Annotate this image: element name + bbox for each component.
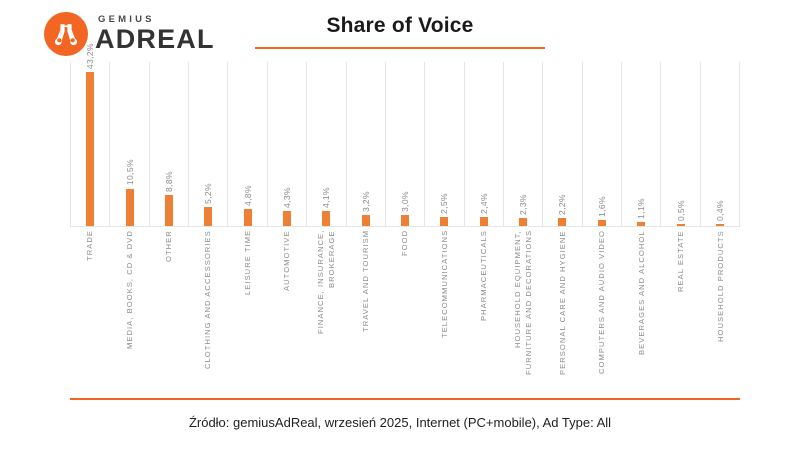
category-label: OTHER: [163, 230, 174, 385]
category-label: AUTOMOTIVE: [281, 230, 292, 385]
chart-column: 4,3%: [267, 62, 306, 226]
category-tick: AUTOMOTIVE: [267, 230, 306, 385]
title-underline: [255, 47, 545, 49]
chart-bar[interactable]: [440, 217, 448, 226]
category-tick: MEDIA, BOOKS, CD & DVD: [109, 230, 148, 385]
page-title: Share of Voice: [255, 14, 545, 49]
bar-value-label: 0,4%: [715, 200, 725, 221]
bar-value-label: 8,8%: [164, 171, 174, 192]
bar-value-label: 10,5%: [125, 159, 135, 185]
chart-column: 2,3%: [503, 62, 542, 226]
chart-bar[interactable]: [362, 215, 370, 226]
category-tick: BEVERAGES AND ALCOHOL: [622, 230, 661, 385]
chart-bar[interactable]: [401, 215, 409, 226]
category-tick: FOOD: [385, 230, 424, 385]
bar-value-label: 4,3%: [282, 187, 292, 208]
category-label: COMPUTERS AND AUDIO VIDEO: [596, 230, 607, 385]
chart-column: 3,0%: [385, 62, 424, 226]
chart-baseline: [70, 226, 740, 227]
category-label: LEISURE TIME: [242, 230, 253, 385]
chart-column: 4,8%: [227, 62, 266, 226]
category-tick: OTHER: [149, 230, 188, 385]
category-tick: PERSONAL CARE AND HYGIENE: [543, 230, 582, 385]
brand-adreal: ADREAL: [95, 26, 215, 53]
chart-bar[interactable]: [165, 195, 173, 226]
source-note: Źródło: gemiusAdReal, wrzesień 2025, Int…: [0, 415, 800, 430]
category-tick: HOUSEHOLD EQUIPMENT, FURNITURE AND DECOR…: [503, 230, 542, 385]
category-label: CLOTHING AND ACCESSORIES: [202, 230, 213, 385]
brand-wordmark: GEMIUS ADREAL: [95, 15, 215, 54]
category-label: FINANCE, INSURANCE, BROKERAGE: [315, 230, 337, 385]
chart-column: 2,2%: [542, 62, 581, 226]
page-title-text: Share of Voice: [255, 14, 545, 38]
category-label: HOUSEHOLD PRODUCTS: [715, 230, 726, 385]
chart-plot-area: 43,2%10,5%8,8%5,2%4,8%4,3%4,1%3,2%3,0%2,…: [70, 62, 740, 226]
category-label: BEVERAGES AND ALCOHOL: [636, 230, 647, 385]
chart-bar[interactable]: [244, 209, 252, 226]
chart-column: 4,1%: [306, 62, 345, 226]
category-label: REAL ESTATE: [675, 230, 686, 385]
bar-value-label: 2,2%: [557, 194, 567, 215]
category-tick: PHARMACEUTICALS: [464, 230, 503, 385]
bar-value-label: 2,4%: [479, 193, 489, 214]
bar-value-label: 4,8%: [243, 185, 253, 206]
page-header: GEMIUS ADREAL Share of Voice: [0, 0, 800, 62]
chart-column: 2,5%: [424, 62, 463, 226]
bar-value-label: 3,2%: [361, 191, 371, 212]
category-label: MEDIA, BOOKS, CD & DVD: [124, 230, 135, 385]
category-label: TELECOMMUNICATIONS: [439, 230, 450, 385]
category-label: TRAVEL AND TOURISM: [360, 230, 371, 385]
category-tick: TRAVEL AND TOURISM: [346, 230, 385, 385]
brand-gemius: GEMIUS: [95, 15, 215, 25]
chart-column: 0,4%: [700, 62, 740, 226]
category-label: TRADE: [84, 230, 95, 385]
bar-value-label: 4,1%: [321, 187, 331, 208]
bar-chart: 43,2%10,5%8,8%5,2%4,8%4,3%4,1%3,2%3,0%2,…: [70, 62, 740, 226]
chart-column: 2,4%: [464, 62, 503, 226]
chart-bar[interactable]: [322, 211, 330, 226]
chart-bar[interactable]: [283, 211, 291, 226]
chart-bar[interactable]: [86, 72, 94, 226]
bar-value-label: 5,2%: [203, 183, 213, 204]
chart-bar[interactable]: [519, 218, 527, 226]
chart-column: 8,8%: [149, 62, 188, 226]
footer-divider: [70, 398, 740, 400]
category-label: PHARMACEUTICALS: [478, 230, 489, 385]
category-tick: TRADE: [70, 230, 109, 385]
bar-value-label: 0,5%: [676, 200, 686, 221]
chart-column: 5,2%: [188, 62, 227, 226]
chart-column: 10,5%: [109, 62, 148, 226]
chart-column: 0,5%: [660, 62, 699, 226]
chart-column: 1,6%: [582, 62, 621, 226]
bar-value-label: 2,3%: [518, 194, 528, 215]
chart-bar[interactable]: [126, 189, 134, 226]
bar-value-label: 1,6%: [597, 196, 607, 217]
chart-column: 1,1%: [621, 62, 660, 226]
chart-bar[interactable]: [558, 218, 566, 226]
category-label: PERSONAL CARE AND HYGIENE: [557, 230, 568, 385]
bar-value-label: 1,1%: [636, 198, 646, 219]
category-tick: CLOTHING AND ACCESSORIES: [188, 230, 227, 385]
category-label: HOUSEHOLD EQUIPMENT, FURNITURE AND DECOR…: [512, 230, 534, 385]
chart-column: 43,2%: [70, 62, 109, 226]
chart-column: 3,2%: [346, 62, 385, 226]
bar-value-label: 2,5%: [439, 193, 449, 214]
binoculars-glyph: [53, 22, 79, 46]
binoculars-icon: [44, 12, 88, 56]
category-tick: LEISURE TIME: [228, 230, 267, 385]
brand-logo: GEMIUS ADREAL: [44, 12, 215, 56]
chart-bar[interactable]: [480, 217, 488, 226]
category-tick: FINANCE, INSURANCE, BROKERAGE: [306, 230, 345, 385]
category-label: FOOD: [399, 230, 410, 385]
bar-value-label: 3,0%: [400, 191, 410, 212]
chart-category-axis: TRADEMEDIA, BOOKS, CD & DVDOTHERCLOTHING…: [70, 230, 740, 385]
category-tick: TELECOMMUNICATIONS: [425, 230, 464, 385]
category-tick: COMPUTERS AND AUDIO VIDEO: [582, 230, 621, 385]
category-tick: HOUSEHOLD PRODUCTS: [701, 230, 740, 385]
chart-bar[interactable]: [204, 207, 212, 226]
category-tick: REAL ESTATE: [661, 230, 700, 385]
